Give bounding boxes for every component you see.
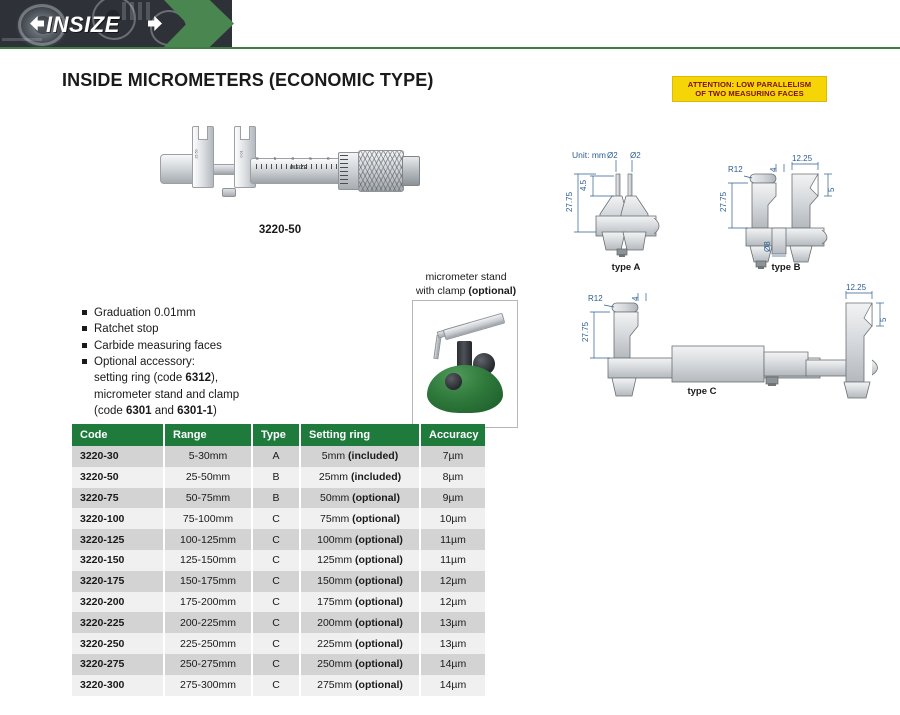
table-row[interactable]: 3220-250225-250mmC225mm (optional)13µm xyxy=(72,633,485,654)
table-row[interactable]: 3220-175150-175mmC150mm (optional)12µm xyxy=(72,571,485,592)
dim-4-b: 4 xyxy=(769,167,778,172)
setting-ring-availability: (optional) xyxy=(355,596,403,608)
stand-caption: micrometer stand with clamp (optional) xyxy=(396,270,536,298)
stand-text: micrometer stand and clamp xyxy=(94,389,239,401)
column-header-type: Type xyxy=(252,424,300,446)
cell-type: C xyxy=(252,654,300,675)
cell-type: A xyxy=(252,446,300,467)
micrometer-end-cap xyxy=(402,156,420,186)
table-row[interactable]: 3220-300275-300mmC275mm (optional)14µm xyxy=(72,675,485,696)
cell-type: C xyxy=(252,550,300,571)
cell-code: 3220-225 xyxy=(72,612,164,633)
cell-accuracy: 12µm xyxy=(420,592,485,613)
cell-accuracy: 11µm xyxy=(420,550,485,571)
table-row[interactable]: 3220-150125-150mmC125mm (optional)11µm xyxy=(72,550,485,571)
column-header-range: Range xyxy=(164,424,252,446)
page-title: INSIDE MICROMETERS (ECONOMIC TYPE) xyxy=(62,70,433,91)
specification-table: Code Range Type Setting ring Accuracy 32… xyxy=(72,424,485,696)
dim-4-c: 4 xyxy=(631,296,640,301)
cell-range: 5-30mm xyxy=(164,446,252,467)
list-item: Carbide measuring faces xyxy=(82,338,332,354)
cell-code: 3220-250 xyxy=(72,633,164,654)
table-row[interactable]: 3220-200175-200mmC175mm (optional)12µm xyxy=(72,592,485,613)
table-row[interactable]: 3220-125100-125mmC100mm (optional)11µm xyxy=(72,529,485,550)
column-header-accuracy: Accuracy xyxy=(420,424,485,446)
setting-ring-pre: setting ring (code xyxy=(94,372,185,384)
setting-ring-size: 225mm xyxy=(317,638,355,650)
feature-text: Carbide measuring faces xyxy=(94,338,222,354)
dim-27-75-a: 27.75 xyxy=(565,191,574,212)
cell-code: 3220-100 xyxy=(72,508,164,529)
cell-code: 3220-275 xyxy=(72,654,164,675)
codes-pre: (code xyxy=(94,405,126,417)
cell-range: 125-150mm xyxy=(164,550,252,571)
cell-accuracy: 9µm xyxy=(420,488,485,509)
cell-range: 175-200mm xyxy=(164,592,252,613)
codes-post: ) xyxy=(213,405,217,417)
setting-ring-availability: (included) xyxy=(348,450,398,462)
micrometer-jaw-left-notch xyxy=(198,126,208,140)
cell-setting-ring: 175mm (optional) xyxy=(300,592,420,613)
left-arrow-icon xyxy=(30,16,44,31)
dim-diameter-8: Ø8 xyxy=(763,241,772,252)
list-item: Optional accessory: xyxy=(82,354,332,370)
column-header-code: Code xyxy=(72,424,164,446)
drawing-label-type-b: type B xyxy=(756,262,816,273)
feature-sub-stand: micrometer stand and clamp xyxy=(82,387,332,403)
setting-ring-size: 275mm xyxy=(317,679,355,691)
micrometer-thimble-scale xyxy=(340,155,348,187)
stand-base xyxy=(427,365,503,413)
cell-range: 250-275mm xyxy=(164,654,252,675)
setting-ring-size: 150mm xyxy=(317,575,355,587)
cell-range: 225-250mm xyxy=(164,633,252,654)
stand-arm xyxy=(433,335,441,359)
setting-ring-size: 100mm xyxy=(317,534,355,546)
cell-accuracy: 11µm xyxy=(420,529,485,550)
cell-type: C xyxy=(252,508,300,529)
dim-diameter-2-left: Ø2 xyxy=(607,151,618,160)
micrometer-lock-screw xyxy=(222,188,236,197)
list-item: Graduation 0.01mm xyxy=(82,305,332,321)
cell-setting-ring: 125mm (optional) xyxy=(300,550,420,571)
insize-logo: INSIZE xyxy=(30,12,170,37)
stand-mounted-micrometer xyxy=(443,313,506,341)
cell-type: C xyxy=(252,612,300,633)
setting-ring-availability: (optional) xyxy=(355,617,403,629)
cell-code: 3220-150 xyxy=(72,550,164,571)
dim-5-b: 5 xyxy=(827,187,836,192)
stand-caption-plain: with clamp xyxy=(416,285,469,297)
drawing-label-type-c: type C xyxy=(672,386,732,397)
column-header-setting-ring: Setting ring xyxy=(300,424,420,446)
cell-accuracy: 13µm xyxy=(420,633,485,654)
micrometer-jaw-range-text: 25-50 xyxy=(195,149,199,158)
cell-code: 3220-125 xyxy=(72,529,164,550)
micrometer-knurled-grip xyxy=(358,150,404,192)
cell-accuracy: 13µm xyxy=(420,612,485,633)
setting-ring-code: 6312 xyxy=(185,372,211,384)
setting-ring-size: 25mm xyxy=(319,471,351,483)
cell-range: 25-50mm xyxy=(164,467,252,488)
cell-setting-ring: 200mm (optional) xyxy=(300,612,420,633)
cell-setting-ring: 250mm (optional) xyxy=(300,654,420,675)
feature-text: Ratchet stop xyxy=(94,321,159,337)
micrometer-jaw-right-notch xyxy=(240,126,250,140)
feature-list: Graduation 0.01mm Ratchet stop Carbide m… xyxy=(82,305,332,419)
dim-12-25-c: 12.25 xyxy=(846,283,867,292)
cell-type: B xyxy=(252,467,300,488)
bullet-icon xyxy=(82,326,87,331)
setting-ring-availability: (optional) xyxy=(355,658,403,670)
stand-caption-line-1: micrometer stand xyxy=(396,270,536,284)
codes-mid: and xyxy=(152,405,178,417)
cell-code: 3220-75 xyxy=(72,488,164,509)
attention-line-2: OF TWO MEASURING FACES xyxy=(695,89,804,98)
drawing-label-type-a: type A xyxy=(596,262,656,273)
cell-type: C xyxy=(252,571,300,592)
cell-setting-ring: 225mm (optional) xyxy=(300,633,420,654)
setting-ring-availability: (optional) xyxy=(352,492,400,504)
cell-code: 3220-300 xyxy=(72,675,164,696)
cell-setting-ring: 150mm (optional) xyxy=(300,571,420,592)
cell-range: 200-225mm xyxy=(164,612,252,633)
attention-badge: ATTENTION: LOW PARALLELISM OF TWO MEASUR… xyxy=(672,76,827,102)
drawing-type-c: R12 4 12.25 5 27.75 xyxy=(581,283,888,398)
cell-accuracy: 14µm xyxy=(420,675,485,696)
cell-code: 3220-200 xyxy=(72,592,164,613)
setting-ring-availability: (optional) xyxy=(352,513,400,525)
cell-setting-ring: 75mm (optional) xyxy=(300,508,420,529)
product-photo-micrometer: 0 5 0 5 0 INSIZE 25-50 0.01 xyxy=(152,118,408,223)
feature-text: Optional accessory: xyxy=(94,354,195,370)
setting-ring-availability: (optional) xyxy=(355,534,403,546)
table-row[interactable]: 3220-10075-100mmC75mm (optional)10µm xyxy=(72,508,485,529)
cell-setting-ring: 5mm (included) xyxy=(300,446,420,467)
micrometer-sleeve-numbers: 0 5 0 5 0 xyxy=(256,156,342,163)
clamp-code: 6301-1 xyxy=(177,405,213,417)
header-divider xyxy=(0,47,900,49)
cell-accuracy: 10µm xyxy=(420,508,485,529)
stand-caption-optional: (optional) xyxy=(468,285,516,297)
table-row[interactable]: 3220-7550-75mmB50mm (optional)9µm xyxy=(72,488,485,509)
cell-type: B xyxy=(252,488,300,509)
cell-type: C xyxy=(252,592,300,613)
cell-code: 3220-30 xyxy=(72,446,164,467)
dim-diameter-2-right: Ø2 xyxy=(630,151,641,160)
feature-sub-codes: (code 6301 and 6301-1) xyxy=(82,403,332,419)
logo-wordmark: INSIZE xyxy=(46,12,120,38)
catalog-page: INSIZE INSIDE MICROMETERS (ECONOMIC TYPE… xyxy=(0,0,900,715)
product-photo-stand xyxy=(412,300,518,428)
cell-range: 75-100mm xyxy=(164,508,252,529)
setting-ring-availability: (optional) xyxy=(355,679,403,691)
setting-ring-size: 175mm xyxy=(317,596,355,608)
cell-accuracy: 12µm xyxy=(420,571,485,592)
drawing-type-a: Ø2 Ø2 4.5 27.75 xyxy=(565,151,659,257)
cell-code: 3220-50 xyxy=(72,467,164,488)
cell-range: 275-300mm xyxy=(164,675,252,696)
cell-type: C xyxy=(252,633,300,654)
setting-ring-size: 250mm xyxy=(317,658,355,670)
setting-ring-availability: (optional) xyxy=(355,554,403,566)
cell-setting-ring: 100mm (optional) xyxy=(300,529,420,550)
feature-text: Graduation 0.01mm xyxy=(94,305,196,321)
setting-ring-availability: (included) xyxy=(351,471,401,483)
micrometer-jaw-grad-text: 0.01 xyxy=(240,151,244,158)
table-row[interactable]: 3220-305-30mmA5mm (included)7µm xyxy=(72,446,485,467)
cell-accuracy: 14µm xyxy=(420,654,485,675)
product-photo-caption: 3220-50 xyxy=(152,224,408,236)
setting-ring-size: 75mm xyxy=(320,513,352,525)
cell-range: 150-175mm xyxy=(164,571,252,592)
unit-label: Unit: mm xyxy=(572,150,606,160)
cell-type: C xyxy=(252,529,300,550)
dim-r12-b: R12 xyxy=(728,165,743,174)
cell-range: 100-125mm xyxy=(164,529,252,550)
cell-code: 3220-175 xyxy=(72,571,164,592)
stand-knob-small xyxy=(445,373,462,390)
list-item: Ratchet stop xyxy=(82,321,332,337)
cell-setting-ring: 50mm (optional) xyxy=(300,488,420,509)
setting-ring-availability: (optional) xyxy=(355,575,403,587)
setting-ring-size: 50mm xyxy=(320,492,352,504)
feature-sub-setting-ring: setting ring (code 6312), xyxy=(82,370,332,386)
attention-line-1: ATTENTION: LOW PARALLELISM xyxy=(688,80,811,89)
right-arrow-icon xyxy=(148,16,162,31)
stand-code: 6301 xyxy=(126,405,152,417)
cell-accuracy: 8µm xyxy=(420,467,485,488)
setting-ring-availability: (optional) xyxy=(355,638,403,650)
machine-part-edge xyxy=(2,38,42,41)
cell-setting-ring: 275mm (optional) xyxy=(300,675,420,696)
dim-4-5: 4.5 xyxy=(579,179,588,191)
table-body: 3220-305-30mmA5mm (included)7µm3220-5025… xyxy=(72,446,485,696)
stand-caption-line-2: with clamp (optional) xyxy=(396,284,536,298)
table-row[interactable]: 3220-275250-275mmC250mm (optional)14µm xyxy=(72,654,485,675)
drawing-type-b: R12 4 12.25 5 27.75 Ø8 xyxy=(719,154,836,269)
dim-r12-c: R12 xyxy=(588,294,603,303)
bullet-icon xyxy=(82,343,87,348)
setting-ring-size: 200mm xyxy=(317,617,355,629)
table-header-row: Code Range Type Setting ring Accuracy xyxy=(72,424,485,446)
cell-accuracy: 7µm xyxy=(420,446,485,467)
table-row[interactable]: 3220-5025-50mmB25mm (included)8µm xyxy=(72,467,485,488)
bullet-icon xyxy=(82,310,87,315)
dim-27-75-c: 27.75 xyxy=(581,321,590,342)
page-header: INSIZE xyxy=(0,0,900,50)
dim-12-25-b: 12.25 xyxy=(792,154,813,163)
setting-ring-size: 125mm xyxy=(317,554,355,566)
cell-setting-ring: 25mm (included) xyxy=(300,467,420,488)
setting-ring-size: 5mm xyxy=(322,450,348,462)
micrometer-brand-text: INSIZE xyxy=(290,165,307,171)
cell-range: 50-75mm xyxy=(164,488,252,509)
cell-type: C xyxy=(252,675,300,696)
dim-5-c: 5 xyxy=(879,317,888,322)
bullet-icon xyxy=(82,359,87,364)
dim-27-75-b: 27.75 xyxy=(719,191,728,212)
setting-ring-post: ), xyxy=(211,372,218,384)
table-row[interactable]: 3220-225200-225mmC200mm (optional)13µm xyxy=(72,612,485,633)
